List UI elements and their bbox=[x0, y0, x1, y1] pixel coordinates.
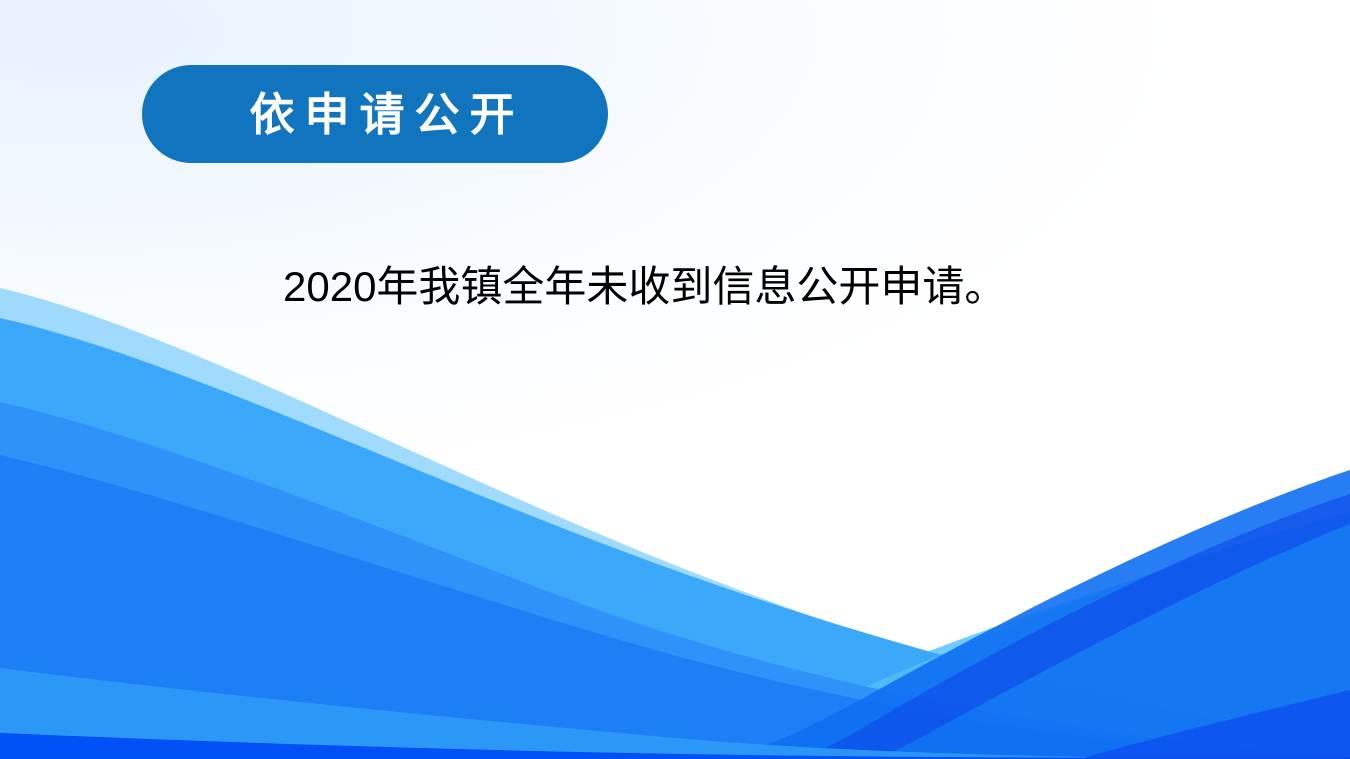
title-badge: 依申请公开 bbox=[142, 65, 608, 163]
body-paragraph: 2020年我镇全年未收到信息公开申请。 bbox=[283, 261, 1006, 314]
slide-content: 依申请公开 2020年我镇全年未收到信息公开申请。 bbox=[0, 0, 1350, 759]
slide-canvas: 依申请公开 2020年我镇全年未收到信息公开申请。 bbox=[0, 0, 1350, 759]
title-badge-label: 依申请公开 bbox=[239, 92, 524, 137]
